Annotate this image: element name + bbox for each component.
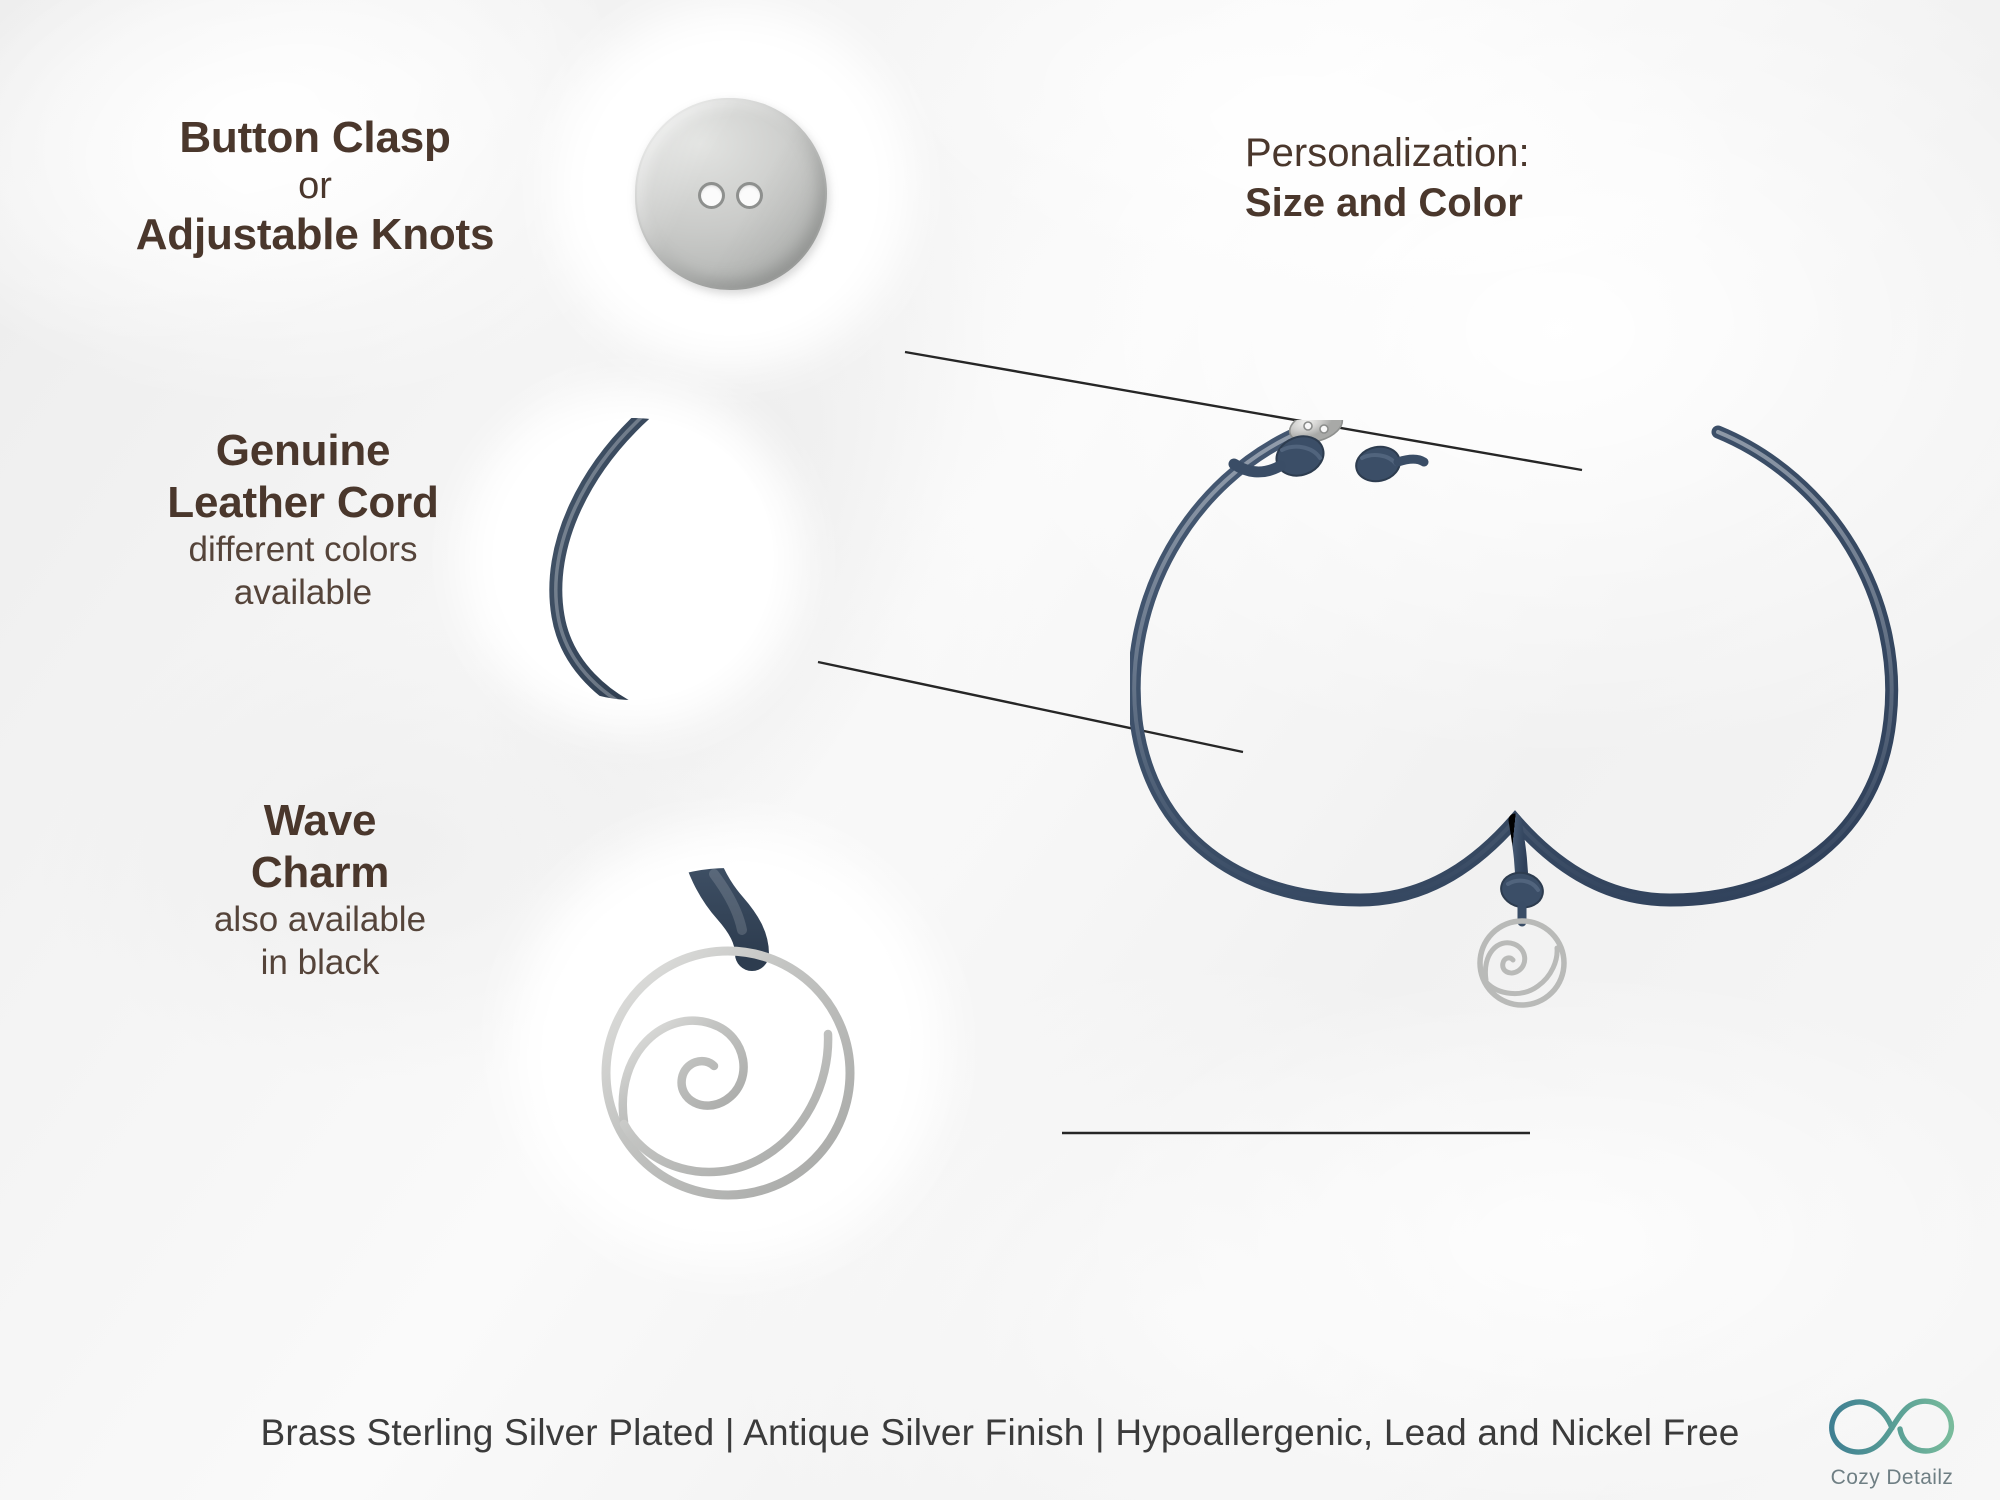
necklace-product-image <box>1130 420 1930 1220</box>
label-personalization-line2: Size and Color <box>1245 178 1715 228</box>
button-clasp-icon <box>635 98 827 290</box>
label-leather-cord-line2: Leather Cord <box>68 477 538 529</box>
wave-charm-icon <box>548 868 908 1228</box>
label-button-clasp-line1: Button Clasp <box>80 112 550 164</box>
charm-outer-ring <box>606 951 850 1195</box>
button-hole-icon <box>736 182 763 209</box>
brand-logo: Cozy Detailz <box>1802 1391 1982 1490</box>
charm-wave-spiral <box>1485 943 1524 980</box>
label-leather-cord-sub1: different colors <box>68 529 538 572</box>
button-clasp-detail-inset <box>583 40 879 336</box>
product-infographic: Button Clasp or Adjustable Knots Genuine… <box>0 0 2000 1500</box>
label-leather-cord-line1: Genuine <box>68 425 538 477</box>
label-button-clasp-line2: or <box>80 164 550 209</box>
label-leather-cord: Genuine Leather Cord different colors av… <box>68 425 538 614</box>
label-wave-charm-sub1: also available <box>150 899 490 942</box>
button-hole-icon <box>698 182 725 209</box>
label-leather-cord-sub2: available <box>68 572 538 615</box>
label-wave-charm-line1: Wave <box>150 795 490 847</box>
label-personalization-line1: Personalization: <box>1245 128 1715 178</box>
label-button-clasp-line3: Adjustable Knots <box>80 209 550 261</box>
label-wave-charm-sub2: in black <box>150 942 490 985</box>
label-wave-charm-line2: Charm <box>150 847 490 899</box>
label-personalization: Personalization: Size and Color <box>1245 128 1715 229</box>
label-wave-charm: Wave Charm also available in black <box>150 795 490 984</box>
wave-charm-detail-inset <box>548 868 908 1228</box>
label-button-clasp: Button Clasp or Adjustable Knots <box>80 112 550 261</box>
footer-material-text: Brass Sterling Silver Plated | Antique S… <box>0 1412 2000 1454</box>
brand-logo-name: Cozy Detailz <box>1802 1466 1982 1490</box>
infinity-monogram-icon <box>1822 1391 1962 1465</box>
charm-wave-spiral <box>623 1021 744 1122</box>
wave-charm-pendant <box>1480 906 1564 1005</box>
